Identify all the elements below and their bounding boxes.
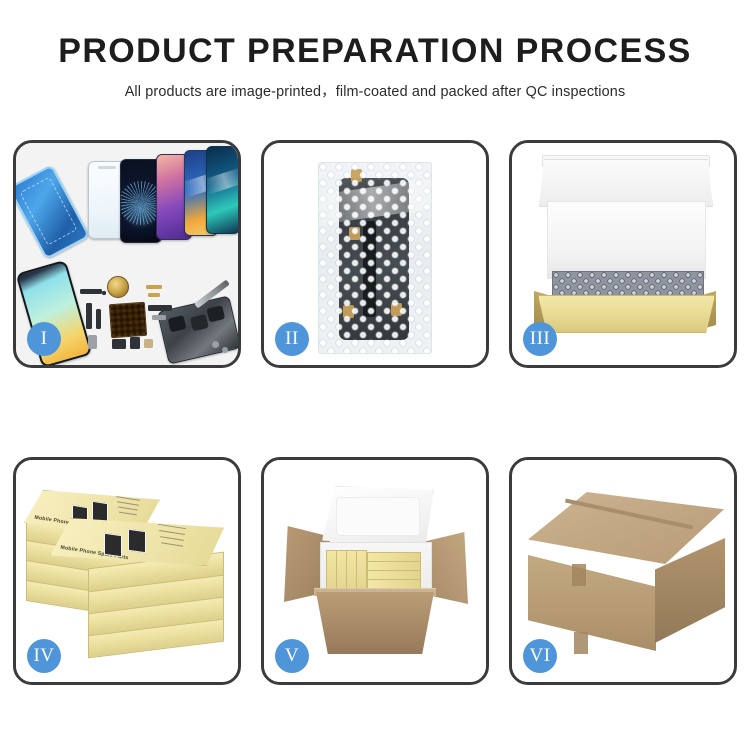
carton-front-panel-graphic (316, 592, 434, 654)
speaker-module-graphic (107, 276, 129, 298)
part-chip (152, 315, 166, 320)
process-steps-grid: I II (13, 140, 737, 688)
header: PRODUCT PREPARATION PROCESS All products… (0, 34, 750, 101)
step-image-bubble-wrapped-part: II (264, 143, 486, 365)
step-image-carton-with-styrofoam: V (264, 460, 486, 682)
part-chip (88, 335, 97, 349)
step-badge-6: VI (523, 639, 557, 673)
box-front-panel-graphic (538, 295, 715, 333)
infographic-page: PRODUCT PREPARATION PROCESS All products… (0, 0, 750, 750)
carton-tape-tab (572, 564, 586, 586)
part-chip (112, 339, 126, 349)
step-image-sealed-shipping-carton: VI (512, 460, 734, 682)
step-panel-4: Mobile Phone Spare Parts Mobile Pho (13, 457, 241, 685)
step-badge-1: I (27, 322, 61, 356)
step-badge-5: V (275, 639, 309, 673)
part-chip (148, 305, 172, 311)
step-badge-4: IV (27, 639, 61, 673)
step-image-inner-box-with-foam: III (512, 143, 734, 365)
foam-sheet-graphic (547, 201, 706, 279)
step-badge-2: II (275, 322, 309, 356)
step-panel-3: III (509, 140, 737, 368)
phone-teal-screen-graphic (206, 146, 238, 234)
bubble-wrapped-contents-graphic (552, 271, 704, 299)
part-chip (80, 289, 102, 294)
part-chip (148, 293, 160, 297)
part-chip (130, 337, 140, 349)
carton-front-face-graphic (528, 555, 656, 651)
part-chip (144, 339, 153, 348)
inner-box-upright (356, 550, 367, 592)
part-screw (212, 341, 219, 348)
step-panel-5: V (261, 457, 489, 685)
part-chip (96, 309, 101, 329)
connector-grid-graphic (109, 302, 147, 338)
step-panel-6: VI (509, 457, 737, 685)
page-subtitle: All products are image-printed，film-coat… (0, 80, 750, 101)
step-panel-2: II (261, 140, 489, 368)
box-label-swatch (128, 529, 146, 554)
styrofoam-lid-graphic (322, 486, 434, 548)
part-chip (86, 303, 92, 329)
part-chip (146, 285, 162, 289)
part-screw (222, 347, 228, 353)
step-image-components-and-screens: I (16, 143, 238, 365)
adhesive-sheet-graphic (16, 164, 90, 260)
step-panel-1: I (13, 140, 241, 368)
box-label-swatch (104, 533, 122, 558)
carton-tape-tab (574, 632, 588, 654)
part-chip (102, 291, 106, 295)
page-title: PRODUCT PREPARATION PROCESS (0, 34, 750, 70)
step-image-stacked-retail-boxes: Mobile Phone Spare Parts Mobile Pho (16, 460, 238, 682)
step-badge-3: III (523, 322, 557, 356)
bubble-wrap-bag-graphic (318, 162, 432, 354)
box-lid-graphic (539, 159, 713, 207)
